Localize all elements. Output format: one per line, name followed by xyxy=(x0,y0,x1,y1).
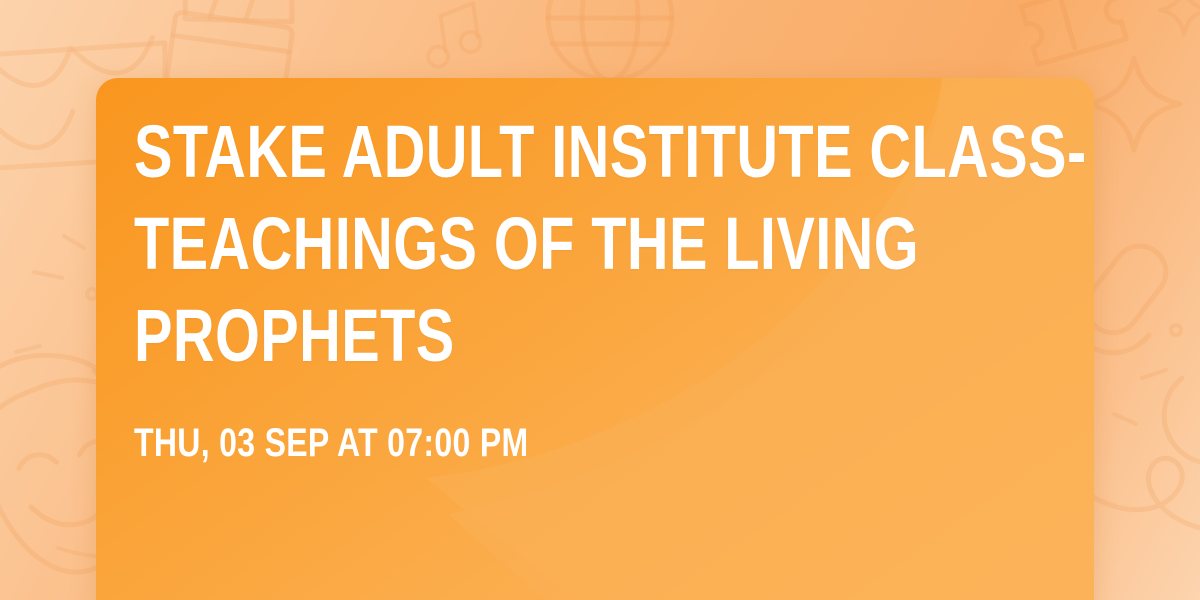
event-card[interactable]: STAKE ADULT INSTITUTE CLASS-TEACHINGS OF… xyxy=(96,78,1094,600)
sparkle-small-icon xyxy=(1160,0,1200,34)
event-title: STAKE ADULT INSTITUTE CLASS-TEACHINGS OF… xyxy=(134,106,1093,382)
card-content: STAKE ADULT INSTITUTE CLASS-TEACHINGS OF… xyxy=(134,106,1054,466)
event-datetime: THU, 03 SEP AT 07:00 PM xyxy=(134,420,630,466)
globe-icon xyxy=(548,0,672,80)
ticket-icon xyxy=(1021,0,1126,64)
confetti-dashes-icon xyxy=(16,236,97,352)
music-note-icon xyxy=(422,3,484,68)
sparkle-star-icon xyxy=(1088,58,1180,150)
event-banner: STAKE ADULT INSTITUTE CLASS-TEACHINGS OF… xyxy=(0,0,1200,600)
